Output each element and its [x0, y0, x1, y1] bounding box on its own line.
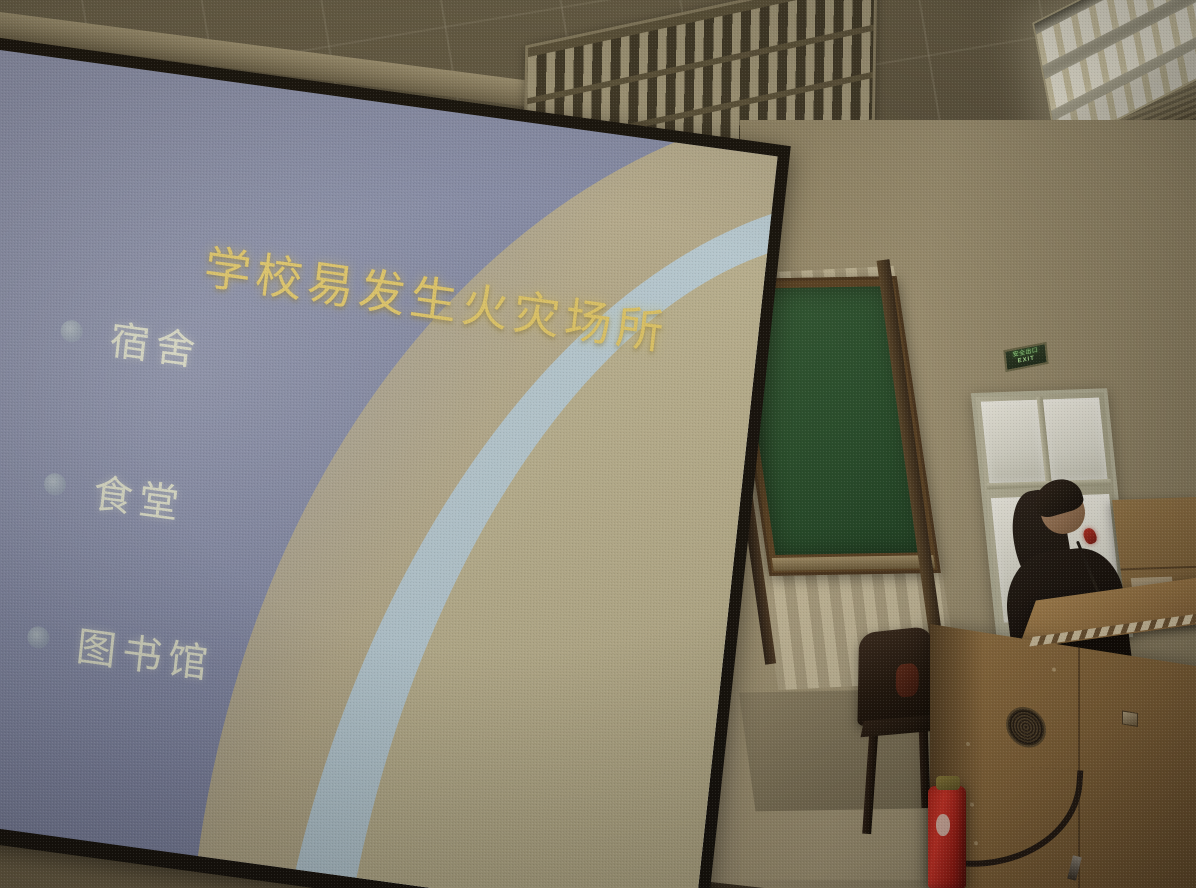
- chalk-tray: [772, 555, 935, 571]
- lectern-panel-seam: [1078, 647, 1080, 888]
- bullet-circle-icon: [60, 319, 84, 344]
- fire-extinguisher: [928, 786, 966, 888]
- fire-extinguisher-label: [936, 814, 950, 836]
- bullet-label: 食堂: [91, 461, 188, 531]
- bullet-label: 宿舍: [107, 308, 204, 378]
- window-pane: [981, 400, 1046, 484]
- bullet-circle-icon: [26, 625, 50, 650]
- bullet-label: 图书馆: [74, 614, 217, 690]
- chair-upholstery-tear: [896, 662, 919, 698]
- classroom-photo-scene: 安全出口 EXIT: [0, 0, 1196, 888]
- pull-down-projection-screen: 学校易发生火灾场所 宿舍 食堂 图书馆: [0, 36, 791, 888]
- list-item: 图书馆: [24, 607, 447, 722]
- list-item: 食堂: [41, 454, 464, 569]
- exit-sign-label-en: EXIT: [1017, 354, 1035, 366]
- speaker-grille-icon: [1006, 704, 1046, 750]
- fire-extinguisher-valve: [936, 776, 960, 790]
- projected-slide: 学校易发生火灾场所 宿舍 食堂 图书馆: [0, 49, 778, 888]
- wooden-chair-back: [857, 626, 932, 726]
- slide-bullet-list: 宿舍 食堂 图书馆: [14, 301, 480, 817]
- lectern-latch: [1122, 710, 1138, 727]
- window-pane: [1043, 398, 1108, 482]
- bullet-circle-icon: [43, 472, 67, 497]
